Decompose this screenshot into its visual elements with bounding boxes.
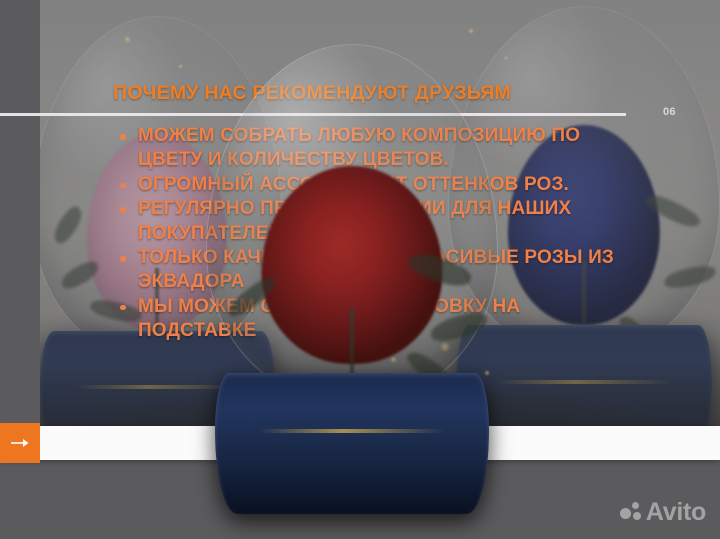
slide-canvas: ПОЧЕМУ НАС РЕКОМЕНДУЮТ ДРУЗЬЯМ 06 МОЖЕМ … bbox=[0, 0, 720, 539]
avito-wordmark: Avito bbox=[646, 500, 706, 525]
avito-dots-icon bbox=[620, 502, 641, 523]
next-slide-button[interactable] bbox=[0, 423, 40, 463]
page-number: 06 bbox=[663, 106, 676, 118]
arrow-right-icon bbox=[10, 437, 30, 449]
dome-base bbox=[215, 373, 490, 514]
avito-watermark: Avito bbox=[620, 500, 706, 525]
red-rose-dome bbox=[206, 44, 498, 514]
